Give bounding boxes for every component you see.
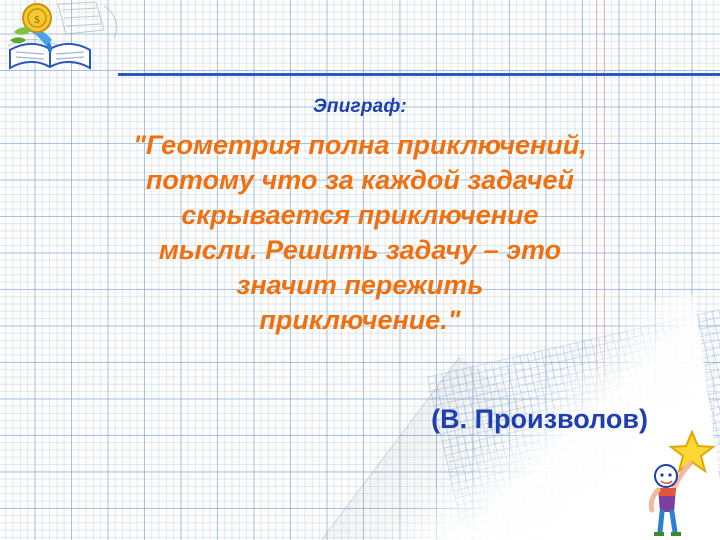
quote-line: скрывается приключение <box>8 198 712 233</box>
header-divider <box>118 73 720 76</box>
svg-text:$: $ <box>34 14 40 26</box>
epigraph-label: Эпиграф: <box>0 96 720 118</box>
open-book-with-coin-icon: $ <box>4 2 100 78</box>
person-with-star-icon <box>640 430 720 536</box>
quote-line: "Геометрия полна приключений, <box>8 128 712 163</box>
quote-line: значит пережить <box>8 268 712 303</box>
quote-line: потому что за каждой задачей <box>8 163 712 198</box>
quote-line: приключение." <box>8 303 712 338</box>
quote-author: (В. Произволов) <box>0 404 648 435</box>
quote-line: мысли. Решить задачу – это <box>8 233 712 268</box>
slide: $ Эпиграф: "Геометрия полна приключений,… <box>0 0 720 540</box>
quote-text: "Геометрия полна приключений, потому что… <box>8 128 712 339</box>
